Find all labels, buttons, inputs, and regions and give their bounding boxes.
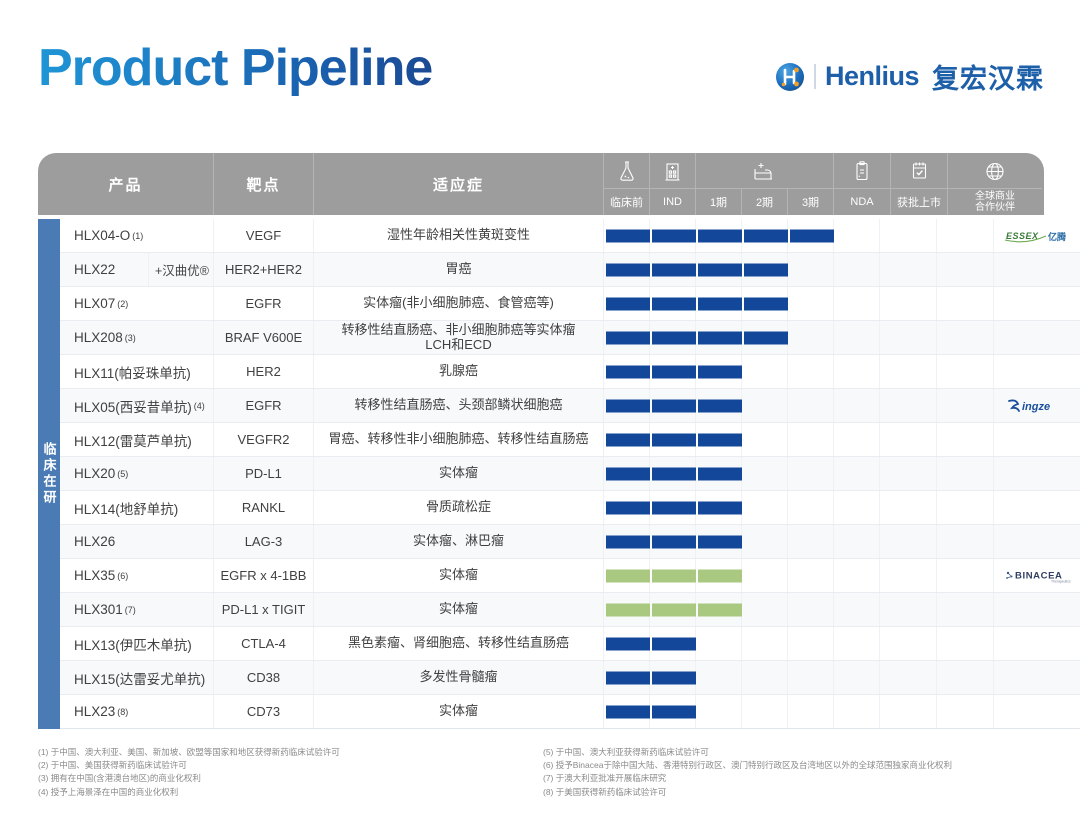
cell-target: LAG-3 <box>214 525 314 558</box>
stage-cell <box>742 457 788 490</box>
table-row[interactable]: HLX05(西妥昔单抗)(4)EGFR转移性结直肠癌、头颈部鳞状细胞癌ingze <box>60 389 1080 423</box>
table-body: 临床在研 HLX04-O(1)VEGF湿性年龄相关性黄斑变性ESSEX亿腾HLX… <box>38 219 1044 729</box>
stage-cell <box>650 389 696 422</box>
building-icon <box>650 153 695 189</box>
cell-partner: ESSEX亿腾 <box>994 219 1080 252</box>
stage-cell <box>742 321 788 354</box>
globe-icon <box>948 153 1042 189</box>
cell-product: HLX11(帕妥珠单抗) <box>60 355 214 388</box>
footnotes-left-column: (1) 于中国、澳大利亚、美国、新加坡、欧盟等国家和地区获得新药临床试验许可(2… <box>38 746 543 799</box>
product-name: HLX14(地舒单抗) <box>74 498 178 518</box>
brand-lockup: Henlius 复宏汉霖 <box>775 57 1044 96</box>
table-row[interactable]: HLX13(伊匹木单抗)CTLA-4黑色素瘤、肾细胞癌、转移性结直肠癌 <box>60 627 1080 661</box>
cell-product: HLX301(7) <box>60 593 214 626</box>
stage-cell <box>604 559 650 592</box>
stage-cell <box>604 593 650 626</box>
stage-cell <box>696 593 742 626</box>
stage-cell <box>834 423 880 456</box>
cell-product: HLX20(5) <box>60 457 214 490</box>
table-row[interactable]: HLX15(达雷妥尤单抗)CD38多发性骨髓瘤 <box>60 661 1080 695</box>
table-rows: HLX04-O(1)VEGF湿性年龄相关性黄斑变性ESSEX亿腾HLX22+汉曲… <box>60 219 1080 729</box>
product-footnote-ref: (2) <box>117 299 128 309</box>
cell-nda <box>880 321 937 354</box>
cell-approved <box>937 219 994 252</box>
cell-progress-bar <box>604 491 880 524</box>
col-header-nda-label: NDA <box>834 189 890 215</box>
stage-cell <box>696 219 742 252</box>
cell-product: HLX208(3) <box>60 321 214 354</box>
page-header: Product Pipeline Henlius 复宏汉霖 <box>0 0 1080 140</box>
cell-nda <box>880 423 937 456</box>
cell-approved <box>937 491 994 524</box>
stage-cell <box>834 457 880 490</box>
cell-progress-bar <box>604 253 880 286</box>
cell-product: HLX13(伊匹木单抗) <box>60 627 214 660</box>
col-header-target: 靶点 <box>214 153 314 215</box>
binacea-logo: BINACEATherapeutics <box>1003 567 1079 585</box>
footnotes: (1) 于中国、澳大利亚、美国、新加坡、欧盟等国家和地区获得新药临床试验许可(2… <box>38 746 1048 799</box>
henlius-molecule-logo <box>775 62 805 92</box>
cell-nda <box>880 219 937 252</box>
stage-cell <box>696 695 742 728</box>
footnote-item: (1) 于中国、澳大利亚、美国、新加坡、欧盟等国家和地区获得新药临床试验许可 <box>38 746 543 759</box>
essex-logo: ESSEX亿腾 <box>1004 227 1078 245</box>
cell-target: EGFR x 4-1BB <box>214 559 314 592</box>
table-row[interactable]: HLX20(5)PD-L1实体瘤 <box>60 457 1080 491</box>
table-row[interactable]: HLX12(雷莫芦单抗)VEGFR2胃癌、转移性非小细胞肺癌、转移性结直肠癌 <box>60 423 1080 457</box>
cell-target: RANKL <box>214 491 314 524</box>
cell-product: HLX26 <box>60 525 214 558</box>
stage-cell <box>696 627 742 660</box>
stage-cell <box>650 627 696 660</box>
cell-progress-bar <box>604 321 880 354</box>
col-header-preclinical: 临床前 <box>604 153 650 215</box>
stage-cell <box>696 559 742 592</box>
stage-cell <box>788 695 834 728</box>
cell-nda <box>880 559 937 592</box>
product-footnote-ref: (7) <box>125 605 136 615</box>
stage-cell <box>742 661 788 694</box>
stage-cell <box>604 253 650 286</box>
stage-cell <box>788 287 834 320</box>
stage-cell <box>742 253 788 286</box>
cell-partner <box>994 593 1080 626</box>
cell-progress-bar <box>604 423 880 456</box>
stage-cell <box>834 627 880 660</box>
cell-product: HLX12(雷莫芦单抗) <box>60 423 214 456</box>
stage-cell <box>742 287 788 320</box>
brand-name-cn: 复宏汉霖 <box>932 57 1044 96</box>
stage-cell <box>742 423 788 456</box>
stage-cell <box>834 525 880 558</box>
stage-cell <box>788 389 834 422</box>
cell-approved <box>937 525 994 558</box>
cell-nda <box>880 457 937 490</box>
stage-cell <box>834 593 880 626</box>
brand-divider <box>814 64 816 89</box>
cell-partner <box>994 525 1080 558</box>
stage-cell <box>604 321 650 354</box>
stage-cell <box>696 253 742 286</box>
cell-target: CD38 <box>214 661 314 694</box>
stage-cell <box>742 389 788 422</box>
stage-cell <box>696 525 742 558</box>
table-row[interactable]: HLX22+汉曲优®HER2+HER2胃癌 <box>60 253 1080 287</box>
cell-indication: 乳腺癌 <box>314 355 604 388</box>
stage-cell <box>742 525 788 558</box>
cell-indication: 胃癌 <box>314 253 604 286</box>
stage-cell <box>834 695 880 728</box>
stage-band-clinical: 临床在研 <box>38 219 60 729</box>
product-footnote-ref: (3) <box>125 333 136 343</box>
col-header-partner: 全球商业 合作伙伴 <box>948 153 1042 215</box>
cell-indication: 黑色素瘤、肾细胞癌、转移性结直肠癌 <box>314 627 604 660</box>
cell-indication: 骨质疏松症 <box>314 491 604 524</box>
cell-nda <box>880 525 937 558</box>
col-header-partner-line1: 全球商业 <box>975 191 1015 203</box>
col-header-nda: NDA <box>834 153 891 215</box>
cell-approved <box>937 389 994 422</box>
cell-partner: BINACEATherapeutics <box>994 559 1080 592</box>
product-name: HLX301 <box>74 602 123 617</box>
stage-cell <box>650 423 696 456</box>
cell-progress-bar <box>604 219 880 252</box>
cell-indication: 实体瘤 <box>314 559 604 592</box>
col-header-approved-label: 获批上市 <box>891 189 947 215</box>
cell-indication: 多发性骨髓瘤 <box>314 661 604 694</box>
cell-partner <box>994 457 1080 490</box>
cell-indication: 实体瘤 <box>314 593 604 626</box>
cell-nda <box>880 253 937 286</box>
footnote-item: (7) 于澳大利亚批准开展临床研究 <box>543 772 1048 785</box>
cell-product: HLX05(西妥昔单抗)(4) <box>60 389 214 422</box>
stage-cell <box>742 593 788 626</box>
cell-product: HLX07(2) <box>60 287 214 320</box>
table-row[interactable]: HLX26LAG-3实体瘤、淋巴瘤 <box>60 525 1080 559</box>
stage-cell <box>604 525 650 558</box>
cell-approved <box>937 457 994 490</box>
col-header-preclinical-label: 临床前 <box>604 189 649 215</box>
bed-plus-icon <box>696 153 833 189</box>
cell-progress-bar <box>604 627 880 660</box>
cell-progress-bar <box>604 457 880 490</box>
cell-approved <box>937 423 994 456</box>
product-footnote-ref: (5) <box>117 469 128 479</box>
stage-cell <box>742 219 788 252</box>
cell-indication: 转移性结直肠癌、头颈部鳞状细胞癌 <box>314 389 604 422</box>
stage-cell <box>742 695 788 728</box>
cell-approved <box>937 321 994 354</box>
table-row[interactable]: HLX301(7)PD-L1 x TIGIT实体瘤 <box>60 593 1080 627</box>
cell-target: BRAF V600E <box>214 321 314 354</box>
pipeline-table: 产品 靶点 适应症 临床前 <box>38 153 1044 729</box>
cell-indication: 湿性年龄相关性黄斑变性 <box>314 219 604 252</box>
footnote-item: (5) 于中国、澳大利亚获得新药临床试验许可 <box>543 746 1048 759</box>
flask-icon <box>604 153 649 189</box>
stage-cell <box>834 355 880 388</box>
stage-cell <box>742 355 788 388</box>
cell-partner <box>994 661 1080 694</box>
stage-cell <box>788 457 834 490</box>
cell-target: PD-L1 x TIGIT <box>214 593 314 626</box>
stage-cell <box>696 355 742 388</box>
footnote-item: (3) 拥有在中国(含港澳台地区)的商业化权利 <box>38 772 543 785</box>
stage-cell <box>788 321 834 354</box>
cell-partner <box>994 423 1080 456</box>
product-name: HLX05(西妥昔单抗) <box>74 396 192 416</box>
stage-cell <box>696 389 742 422</box>
clipboard-icon <box>834 153 890 189</box>
cell-target: VEGFR2 <box>214 423 314 456</box>
cell-progress-bar <box>604 559 880 592</box>
product-name: HLX04-O <box>74 228 130 243</box>
cell-progress-bar <box>604 355 880 388</box>
cell-approved <box>937 559 994 592</box>
stage-cell <box>650 593 696 626</box>
cell-approved <box>937 627 994 660</box>
col-header-phase-group: 1期 2期 3期 <box>696 153 834 215</box>
table-row[interactable]: HLX11(帕妥珠单抗)HER2乳腺癌 <box>60 355 1080 389</box>
stage-cell <box>696 321 742 354</box>
footnote-item: (8) 于美国获得新药临床试验许可 <box>543 786 1048 799</box>
stage-cell <box>788 253 834 286</box>
cell-nda <box>880 627 937 660</box>
stage-cell <box>604 661 650 694</box>
product-name: HLX07 <box>74 296 115 311</box>
cell-target: CD73 <box>214 695 314 728</box>
combo-drug-label: +汉曲优® <box>148 253 209 286</box>
col-header-partner-line2: 合作伙伴 <box>975 202 1015 214</box>
product-name: HLX208 <box>74 330 123 345</box>
cell-partner <box>994 321 1080 354</box>
table-row[interactable]: HLX35(6)EGFR x 4-1BB实体瘤BINACEATherapeuti… <box>60 559 1080 593</box>
svg-text:ESSEX: ESSEX <box>1006 231 1039 241</box>
cell-indication: 实体瘤 <box>314 695 604 728</box>
cell-progress-bar <box>604 695 880 728</box>
cell-indication: 转移性结直肠癌、非小细胞肺癌等实体瘤LCH和ECD <box>314 321 604 354</box>
cell-product: HLX23(8) <box>60 695 214 728</box>
stage-cell <box>834 321 880 354</box>
product-name: HLX12(雷莫芦单抗) <box>74 430 192 450</box>
stage-cell <box>834 219 880 252</box>
stage-cell <box>834 661 880 694</box>
cell-partner: ingze <box>994 389 1080 422</box>
stage-cell <box>696 423 742 456</box>
stage-cell <box>650 253 696 286</box>
svg-text:ingze: ingze <box>1022 401 1050 413</box>
svg-text:Therapeutics: Therapeutics <box>1051 579 1071 583</box>
cell-approved <box>937 253 994 286</box>
product-name: HLX35 <box>74 568 115 583</box>
stage-cell <box>650 491 696 524</box>
stage-cell <box>650 457 696 490</box>
stage-cell <box>788 525 834 558</box>
cell-partner <box>994 355 1080 388</box>
stage-cell <box>604 695 650 728</box>
cell-product: HLX14(地舒单抗) <box>60 491 214 524</box>
col-header-ind-label: IND <box>650 189 695 215</box>
bingze-logo: ingze <box>1006 397 1076 415</box>
stage-cell <box>604 627 650 660</box>
cell-progress-bar <box>604 593 880 626</box>
stage-cell <box>650 355 696 388</box>
cell-target: HER2+HER2 <box>214 253 314 286</box>
stage-cell <box>834 389 880 422</box>
stage-cell <box>788 355 834 388</box>
col-header-phase1-label: 1期 <box>696 189 742 215</box>
stage-cell <box>696 661 742 694</box>
col-header-phase2-label: 2期 <box>742 189 788 215</box>
stage-cell <box>742 627 788 660</box>
stage-cell <box>696 287 742 320</box>
cell-approved <box>937 593 994 626</box>
stage-cell <box>788 627 834 660</box>
cell-nda <box>880 355 937 388</box>
product-footnote-ref: (1) <box>132 231 143 241</box>
stage-cell <box>604 389 650 422</box>
cell-indication: 胃癌、转移性非小细胞肺癌、转移性结直肠癌 <box>314 423 604 456</box>
svg-text:亿腾: 亿腾 <box>1048 231 1067 242</box>
stage-cell <box>696 491 742 524</box>
table-row[interactable]: HLX14(地舒单抗)RANKL骨质疏松症 <box>60 491 1080 525</box>
stage-cell <box>788 593 834 626</box>
table-row[interactable]: HLX04-O(1)VEGF湿性年龄相关性黄斑变性ESSEX亿腾 <box>60 219 1080 253</box>
footnotes-right-column: (5) 于中国、澳大利亚获得新药临床试验许可(6) 授予Binacea于除中国大… <box>543 746 1048 799</box>
cell-product: HLX15(达雷妥尤单抗) <box>60 661 214 694</box>
cell-partner <box>994 695 1080 728</box>
product-footnote-ref: (8) <box>117 707 128 717</box>
cell-approved <box>937 355 994 388</box>
stage-cell <box>604 457 650 490</box>
product-footnote-ref: (4) <box>194 401 205 411</box>
stage-cell <box>604 423 650 456</box>
stage-cell <box>742 491 788 524</box>
product-footnote-ref: (6) <box>117 571 128 581</box>
cell-nda <box>880 491 937 524</box>
cell-nda <box>880 287 937 320</box>
stage-cell <box>604 287 650 320</box>
cell-progress-bar <box>604 525 880 558</box>
stage-cell <box>788 423 834 456</box>
page-title: Product Pipeline <box>38 38 432 98</box>
stage-cell <box>834 253 880 286</box>
cell-nda <box>880 389 937 422</box>
col-header-phase3-label: 3期 <box>788 189 833 215</box>
cell-product: HLX35(6) <box>60 559 214 592</box>
footnote-item: (6) 授予Binacea于除中国大陆、香港特别行政区、澳门特别行政区及台湾地区… <box>543 759 1048 772</box>
cell-partner <box>994 253 1080 286</box>
cell-nda <box>880 593 937 626</box>
table-row[interactable]: HLX208(3)BRAF V600E转移性结直肠癌、非小细胞肺癌等实体瘤LCH… <box>60 321 1080 355</box>
stage-cell <box>788 661 834 694</box>
stage-cell <box>696 457 742 490</box>
cell-target: HER2 <box>214 355 314 388</box>
cell-progress-bar <box>604 389 880 422</box>
stage-cell <box>604 219 650 252</box>
cell-indication: 实体瘤、淋巴瘤 <box>314 525 604 558</box>
stage-cell <box>834 287 880 320</box>
product-name: HLX15(达雷妥尤单抗) <box>74 668 205 688</box>
cell-indication: 实体瘤(非小细胞肺癌、食管癌等) <box>314 287 604 320</box>
table-header-row: 产品 靶点 适应症 临床前 <box>38 153 1044 215</box>
stage-cell <box>604 491 650 524</box>
stage-cell <box>788 491 834 524</box>
product-name: HLX20 <box>74 466 115 481</box>
product-name: HLX11(帕妥珠单抗) <box>74 362 191 382</box>
table-row[interactable]: HLX07(2)EGFR实体瘤(非小细胞肺癌、食管癌等) <box>60 287 1080 321</box>
table-row[interactable]: HLX23(8)CD73实体瘤 <box>60 695 1080 729</box>
stage-cell <box>604 355 650 388</box>
cell-nda <box>880 695 937 728</box>
product-name: HLX13(伊匹木单抗) <box>74 634 192 654</box>
cell-partner <box>994 491 1080 524</box>
stage-cell <box>650 559 696 592</box>
cell-target: VEGF <box>214 219 314 252</box>
stage-cell <box>834 559 880 592</box>
cell-target: PD-L1 <box>214 457 314 490</box>
cell-progress-bar <box>604 287 880 320</box>
product-name: HLX23 <box>74 704 115 719</box>
stage-cell <box>650 287 696 320</box>
stage-cell <box>742 559 788 592</box>
cell-target: CTLA-4 <box>214 627 314 660</box>
cell-partner <box>994 627 1080 660</box>
stage-cell <box>650 661 696 694</box>
cell-product: HLX22+汉曲优® <box>60 253 214 286</box>
stage-cell <box>650 219 696 252</box>
product-name: HLX26 <box>74 534 115 549</box>
cell-target: EGFR <box>214 287 314 320</box>
col-header-approved: 获批上市 <box>891 153 948 215</box>
cell-approved <box>937 661 994 694</box>
col-header-partner-label: 全球商业 合作伙伴 <box>948 189 1042 215</box>
brand-name-en: Henlius <box>825 61 919 92</box>
cell-nda <box>880 661 937 694</box>
calendar-check-icon <box>891 153 947 189</box>
cell-approved <box>937 287 994 320</box>
footnote-item: (2) 于中国、美国获得新药临床试验许可 <box>38 759 543 772</box>
stage-cell <box>834 491 880 524</box>
cell-indication: 实体瘤 <box>314 457 604 490</box>
col-header-indication: 适应症 <box>314 153 604 215</box>
product-name: HLX22 <box>74 262 115 277</box>
cell-progress-bar <box>604 661 880 694</box>
cell-partner <box>994 287 1080 320</box>
stage-cell <box>650 695 696 728</box>
col-header-ind: IND <box>650 153 696 215</box>
stage-cell <box>788 219 834 252</box>
footnote-item: (4) 授予上海景泽在中国的商业化权利 <box>38 786 543 799</box>
stage-cell <box>788 559 834 592</box>
cell-approved <box>937 695 994 728</box>
cell-target: EGFR <box>214 389 314 422</box>
cell-product: HLX04-O(1) <box>60 219 214 252</box>
stage-cell <box>650 321 696 354</box>
stage-cell <box>650 525 696 558</box>
col-header-product: 产品 <box>38 153 214 215</box>
